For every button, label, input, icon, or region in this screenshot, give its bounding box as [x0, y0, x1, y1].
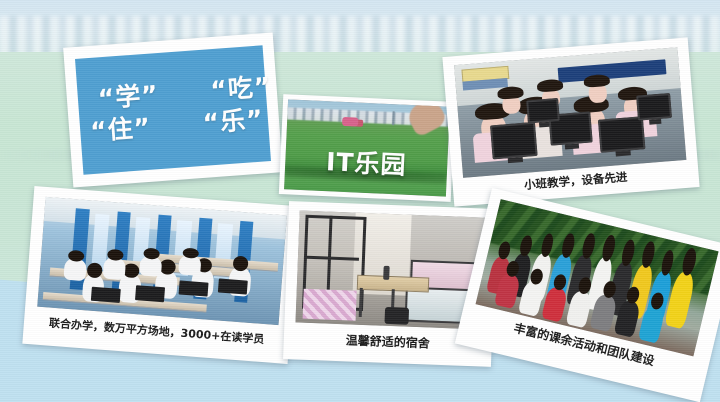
student [64, 258, 87, 282]
student [139, 255, 162, 277]
monitor [636, 93, 671, 120]
dormitory-image [295, 210, 485, 329]
person [501, 94, 520, 115]
photo-dormitory [295, 210, 485, 329]
classroom-image [37, 197, 287, 325]
hand-icon [404, 99, 448, 138]
trash-bin [385, 307, 410, 325]
laptop [218, 279, 248, 295]
photo-it-park: IT乐园 [284, 99, 450, 196]
slogan-card-panel: “学” “吃” “住” “乐” [75, 45, 271, 174]
person [588, 82, 607, 103]
photo-card-computer-lab[interactable]: 小班教学，设备先进 [442, 37, 699, 206]
field-vehicle [342, 117, 358, 127]
laptop [179, 280, 209, 296]
desk-table [356, 274, 429, 292]
quilt [303, 289, 356, 320]
table-leg [359, 288, 363, 317]
bottle [383, 265, 390, 279]
poster-stage: “学” “吃” “住” “乐” IT乐园 [0, 0, 720, 402]
photo-card-classroom[interactable]: 联合办学，数万平方场地，3000+在读学员 [22, 186, 299, 364]
student [102, 257, 125, 281]
monitor [527, 98, 560, 124]
monitor [598, 116, 645, 153]
slogan-card[interactable]: “学” “吃” “住” “乐” [63, 32, 283, 187]
lab-image [454, 47, 686, 178]
laptop [91, 287, 121, 303]
photo-computer-lab [454, 47, 686, 178]
monitor [490, 122, 537, 159]
photo-card-it-park[interactable]: IT乐园 [279, 94, 455, 202]
laptop [135, 285, 165, 301]
photo-classroom [37, 197, 287, 325]
student [178, 255, 201, 276]
it-park-overlay-text: IT乐园 [285, 141, 448, 184]
